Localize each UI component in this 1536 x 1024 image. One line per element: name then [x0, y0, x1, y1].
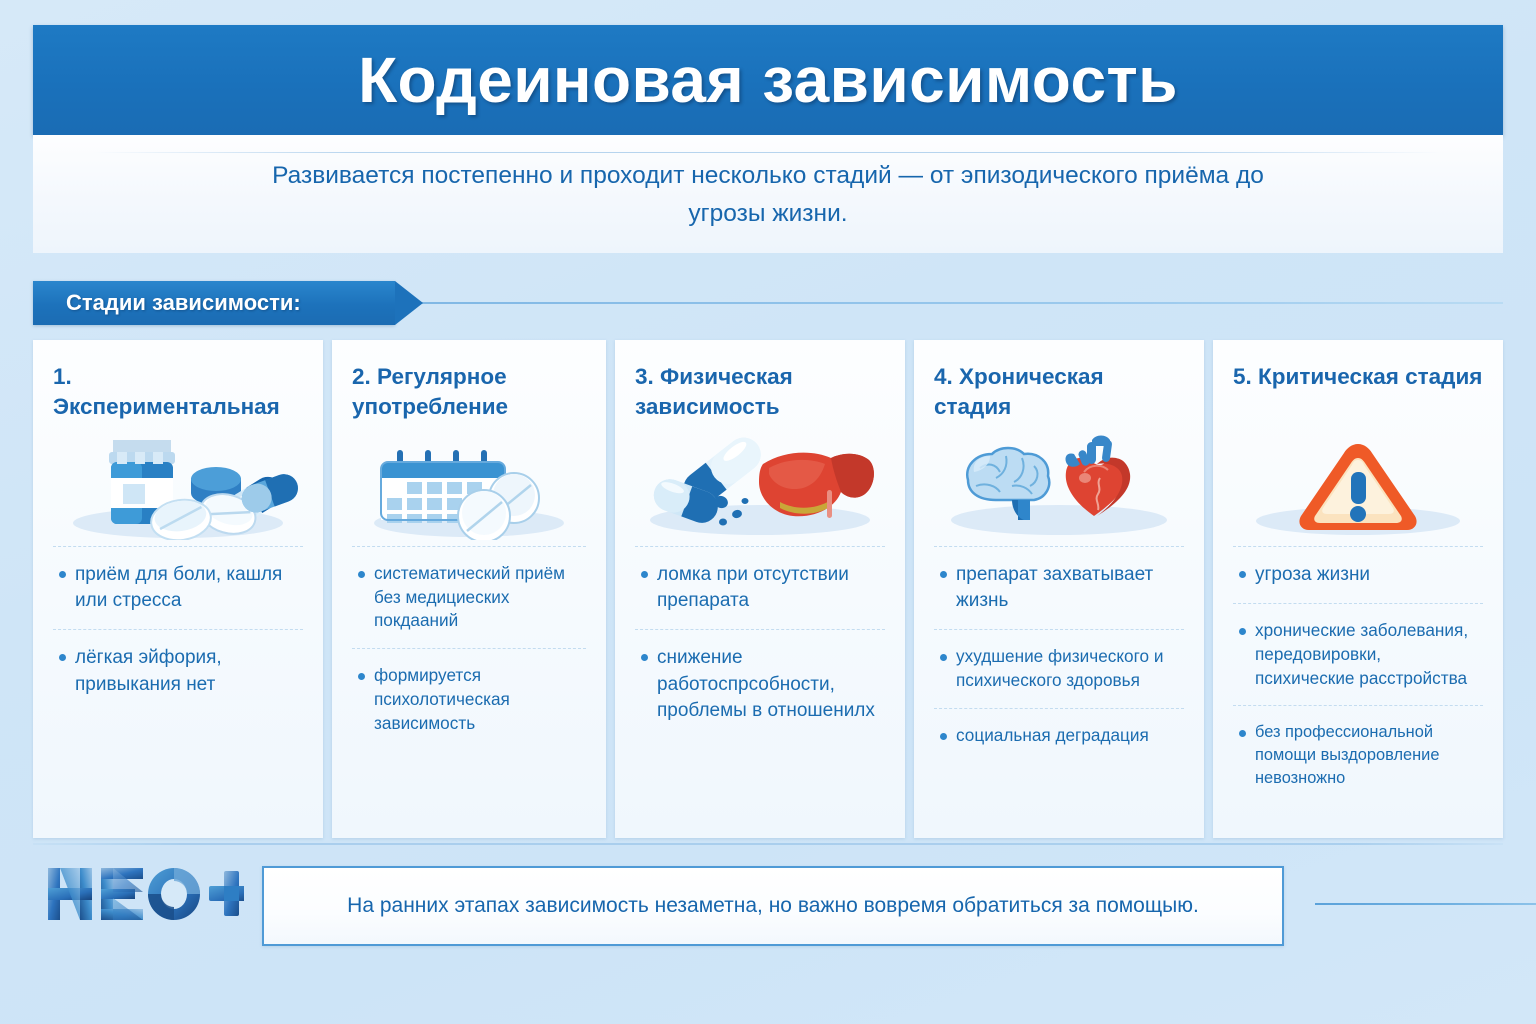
bullet-dot-icon	[1239, 628, 1246, 635]
section-banner: Стадии зависимости:	[33, 281, 395, 325]
footer-note-text: На ранних этапах зависимость незаметна, …	[347, 894, 1199, 918]
stage-card-2[interactable]: 2. Регулярное употребление	[332, 340, 606, 838]
brain-heart-icon	[934, 428, 1184, 540]
banner-arrow-icon	[395, 281, 423, 325]
stage-card-2-bullets: систематический приём без медициеских по…	[352, 546, 586, 750]
bullet-text: без профессиональной помощи выздоровлени…	[1255, 721, 1481, 789]
stage-card-4[interactable]: 4. Хроническая стадия	[914, 340, 1204, 838]
stage-card-5-bullets: угроза жизни хронические заболевания, пе…	[1233, 546, 1483, 804]
subtitle-panel: Развивается постепенно и проходит нескол…	[33, 135, 1503, 253]
bullet-dot-icon	[641, 654, 648, 661]
bullet-dot-icon	[1239, 730, 1246, 737]
list-item: без профессиональной помощи выздоровлени…	[1233, 705, 1483, 804]
stage-card-5-title: 5. Критическая стадия	[1233, 362, 1483, 424]
list-item: снижение работоспрсобности, проблемы в о…	[635, 629, 885, 739]
capsule-liver-icon	[635, 428, 885, 540]
bullet-dot-icon	[358, 673, 365, 680]
calendar-pills-icon	[352, 428, 586, 540]
warning-triangle-icon	[1233, 428, 1483, 540]
list-item: препарат захватывает жизнь	[934, 546, 1184, 629]
bullet-dot-icon	[940, 571, 947, 578]
bullet-text: приём для боли, кашля или стресса	[75, 562, 301, 614]
bullet-text: снижение работоспрсобности, проблемы в о…	[657, 645, 883, 724]
list-item: лёгкая эйфория, привыкания нет	[53, 629, 303, 712]
bullet-text: угроза жизни	[1255, 562, 1370, 588]
list-item: систематический приём без медициеских по…	[352, 546, 586, 648]
bullet-text: препарат захватывает жизнь	[956, 562, 1182, 614]
bullet-text: ухудшение физического и психического здо…	[956, 645, 1182, 692]
bullet-dot-icon	[358, 571, 365, 578]
bullet-dot-icon	[940, 733, 947, 740]
stage-card-3-bullets: ломка при отсутствии препарата снижение …	[635, 546, 885, 739]
bullet-dot-icon	[641, 571, 648, 578]
title-band: Кодеиновая зависимость	[33, 25, 1503, 135]
stage-card-3-title: 3. Физическая зависимость	[635, 362, 885, 424]
footer-divider	[33, 843, 1503, 845]
pill-bottle-icon	[53, 428, 303, 540]
list-item: формируется психолотическая зависимость	[352, 648, 586, 750]
list-item: хронические заболевания, передовировки, …	[1233, 603, 1483, 705]
list-item: ломка при отсутствии препарата	[635, 546, 885, 629]
list-item: приём для боли, кашля или стресса	[53, 546, 303, 629]
stage-card-1-title: 1. Экспериментальная	[53, 362, 303, 424]
stage-cards: 1. Экспериментальная	[33, 340, 1503, 838]
page-subtitle: Развивается постепенно и проходит нескол…	[263, 157, 1273, 231]
stage-card-4-bullets: препарат захватывает жизнь ухудшение физ…	[934, 546, 1184, 763]
stage-card-2-title: 2. Регулярное употребление	[352, 362, 586, 424]
bullet-text: формируется психолотическая зависимость	[374, 664, 584, 735]
banner-rule	[388, 302, 1503, 304]
bullet-text: хронические заболевания, передовировки, …	[1255, 619, 1481, 690]
page-title: Кодеиновая зависимость	[358, 48, 1178, 112]
bullet-dot-icon	[59, 571, 66, 578]
list-item: социальная деградация	[934, 708, 1184, 763]
logo-neo-plus[interactable]	[44, 862, 244, 926]
footer-tail-rule	[1315, 903, 1536, 905]
bullet-text: ломка при отсутствии препарата	[657, 562, 883, 614]
section-banner-label: Стадии зависимости:	[33, 290, 301, 316]
stage-card-3[interactable]: 3. Физическая зависимость	[615, 340, 905, 838]
stage-card-5[interactable]: 5. Критическая стадия угроза жизни	[1213, 340, 1503, 838]
stage-card-1[interactable]: 1. Экспериментальная	[33, 340, 323, 838]
bullet-dot-icon	[940, 654, 947, 661]
list-item: угроза жизни	[1233, 546, 1483, 603]
infographic-root: Кодеиновая зависимость Развивается посте…	[0, 0, 1536, 1024]
stage-card-1-bullets: приём для боли, кашля или стресса лёгкая…	[53, 546, 303, 713]
bullet-text: лёгкая эйфория, привыкания нет	[75, 645, 301, 697]
bullet-text: систематический приём без медициеских по…	[374, 562, 584, 633]
list-item: ухудшение физического и психического здо…	[934, 629, 1184, 707]
bullet-text: социальная деградация	[956, 724, 1149, 748]
footer-note-box: На ранних этапах зависимость незаметна, …	[262, 866, 1284, 946]
stage-card-4-title: 4. Хроническая стадия	[934, 362, 1184, 424]
bullet-dot-icon	[1239, 571, 1246, 578]
section-banner-wrap: Стадии зависимости:	[33, 281, 1503, 325]
bullet-dot-icon	[59, 654, 66, 661]
